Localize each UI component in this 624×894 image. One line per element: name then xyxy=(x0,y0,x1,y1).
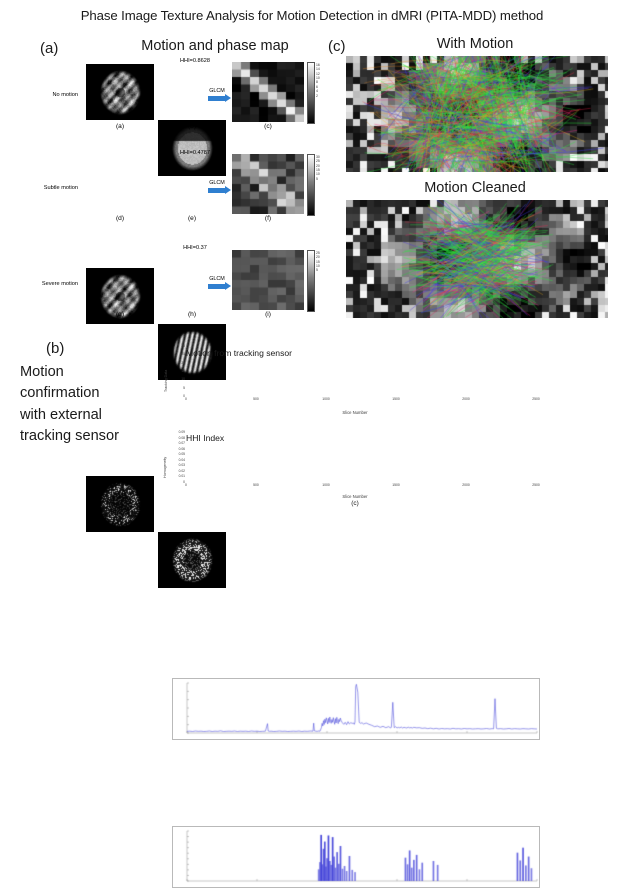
page-title: Phase Image Texture Analysis for Motion … xyxy=(0,8,624,23)
x-tick-label: 500 xyxy=(247,483,265,487)
panel-c-heading-bottom: Motion Cleaned xyxy=(360,180,590,196)
x-tick-label: 0 xyxy=(177,397,195,401)
y-tick-label: 0.02 xyxy=(173,469,185,473)
sublabel-i: (i) xyxy=(248,311,288,318)
hhi-index-chart xyxy=(172,826,540,888)
tracking-chart-ylabel: Tracking Data xyxy=(164,370,168,392)
tracking-chart-xlabel: Slice Number xyxy=(300,410,410,415)
y-tick-label: 5 xyxy=(173,386,185,390)
y-tick-label: 0.03 xyxy=(173,463,185,467)
magnitude-image-g xyxy=(86,476,154,532)
y-tick-label: 0.09 xyxy=(173,430,185,434)
tracking-chart-title: Motion from tracking sensor xyxy=(186,348,292,358)
sublabel-c: (c) xyxy=(248,123,288,130)
colorbar-ticks-row1: 161412108642 xyxy=(316,62,320,122)
y-tick-label: 10 xyxy=(173,377,185,381)
tracking-sensor-chart xyxy=(172,678,540,740)
glcm-label: GLCM xyxy=(209,89,225,94)
hhi-chart-title: HHI Index xyxy=(186,433,224,443)
y-tick-label: 30 xyxy=(173,344,185,348)
hhi-chart-ylabel: Homogeneity xyxy=(163,457,167,478)
y-tick-label: 0.04 xyxy=(173,458,185,462)
x-tick-label: 2500 xyxy=(527,397,545,401)
phase-map-image-h xyxy=(158,532,226,588)
x-tick-label: 2500 xyxy=(527,483,545,487)
glcm-matrix-f xyxy=(232,154,304,214)
glcm-label: GLCM xyxy=(209,277,225,282)
panel-b-line-2: confirmation xyxy=(20,383,160,404)
glcm-label: GLCM xyxy=(209,181,225,186)
glcm-matrix-i xyxy=(232,250,304,310)
row-label-subtle-motion: Subtle motion xyxy=(22,185,78,191)
panel-a-heading: Motion and phase map xyxy=(95,38,335,54)
panel-b-line-4: tracking sensor xyxy=(20,426,160,447)
x-tick-label: 1000 xyxy=(317,397,335,401)
sublabel-d: (d) xyxy=(100,215,140,222)
glcm-arrow-row2: GLCM xyxy=(205,176,229,198)
panel-b-caption: (c) xyxy=(300,500,410,507)
x-tick-label: 1500 xyxy=(387,483,405,487)
x-tick-label: 0 xyxy=(177,483,195,487)
panel-b-line-3: with external xyxy=(20,405,160,426)
sublabel-a: (a) xyxy=(100,123,140,130)
arrow-icon xyxy=(208,284,226,289)
panel-b-description: Motion confirmation with external tracki… xyxy=(20,362,160,447)
tractography-motion-cleaned xyxy=(346,200,608,318)
sublabel-f: (f) xyxy=(248,215,288,222)
glcm-arrow-row1: GLCM xyxy=(205,84,229,106)
glcm-arrow-row3: GLCM xyxy=(205,272,229,294)
hhi-chart-xlabel: Slice Number xyxy=(300,494,410,499)
arrow-icon xyxy=(208,188,226,193)
row-label-severe-motion: Severe motion xyxy=(22,281,78,287)
panel-c-heading-top: With Motion xyxy=(360,36,590,52)
x-tick-label: 2000 xyxy=(457,483,475,487)
panel-b-letter: (b) xyxy=(46,340,64,357)
colorbar-ticks-row2: 30252015105 xyxy=(316,154,320,214)
sublabel-b: (b) xyxy=(172,123,212,130)
y-tick-label: 0.08 xyxy=(173,436,185,440)
y-tick-label: 20 xyxy=(173,361,185,365)
y-tick-label: 0.01 xyxy=(173,474,185,478)
panel-a-letter: (a) xyxy=(40,40,58,57)
colorbar-row2: 30252015105 xyxy=(307,154,320,214)
colorbar-ticks-row3: 252015105 xyxy=(316,250,320,310)
glcm-matrix-c xyxy=(232,62,304,122)
colorbar-row1: 161412108642 xyxy=(307,62,320,122)
y-tick-label: 0.05 xyxy=(173,452,185,456)
x-tick-label: 500 xyxy=(247,397,265,401)
tractography-with-motion xyxy=(346,56,608,172)
row-label-no-motion: No motion xyxy=(22,92,78,98)
x-tick-label: 2000 xyxy=(457,397,475,401)
y-tick-label: 0.07 xyxy=(173,441,185,445)
sublabel-g: (g) xyxy=(100,311,140,318)
arrow-icon xyxy=(208,96,226,101)
y-tick-label: 15 xyxy=(173,369,185,373)
panel-b-line-1: Motion xyxy=(20,362,160,383)
panel-c-letter: (c) xyxy=(328,38,346,55)
sublabel-h: (h) xyxy=(172,311,212,318)
x-tick-label: 1000 xyxy=(317,483,335,487)
y-tick-label: 25 xyxy=(173,352,185,356)
sublabel-e: (e) xyxy=(172,215,212,222)
y-tick-label: 0.06 xyxy=(173,447,185,451)
magnitude-image-a xyxy=(86,64,154,120)
colorbar-row3: 252015105 xyxy=(307,250,320,310)
x-tick-label: 1500 xyxy=(387,397,405,401)
